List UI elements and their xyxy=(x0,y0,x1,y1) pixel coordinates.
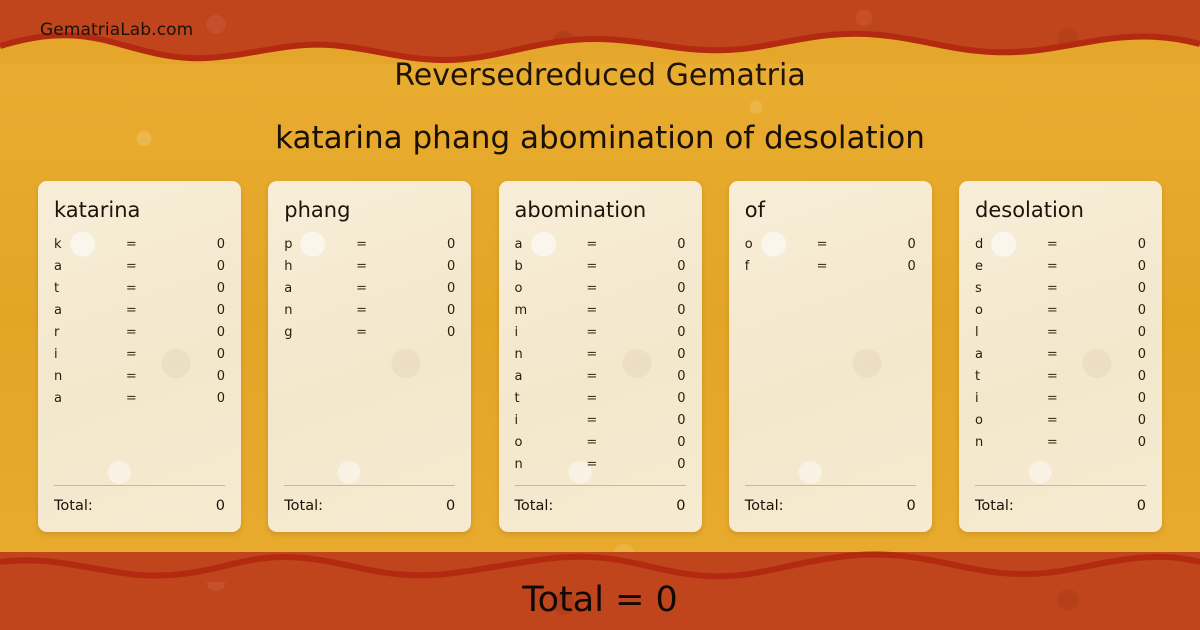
letter-value: 0 xyxy=(174,325,225,340)
letter-value: 0 xyxy=(634,413,685,428)
equals-sign: = xyxy=(1047,347,1095,362)
letter-label: n xyxy=(54,369,126,384)
letter-label: o xyxy=(975,413,1047,428)
letter-row: o=0 xyxy=(745,237,916,259)
letter-label: a xyxy=(54,391,126,406)
equals-sign: = xyxy=(586,237,634,252)
letter-row: a=0 xyxy=(284,281,455,303)
letter-label: o xyxy=(515,281,587,296)
letter-value: 0 xyxy=(1095,259,1146,274)
letter-row: p=0 xyxy=(284,237,455,259)
equals-sign: = xyxy=(586,303,634,318)
equals-sign: = xyxy=(817,237,865,252)
equals-sign: = xyxy=(586,457,634,472)
card-total-row: Total:0 xyxy=(975,498,1146,518)
equals-sign: = xyxy=(586,325,634,340)
bottom-torn-edge xyxy=(0,548,1200,582)
letter-label: i xyxy=(515,413,587,428)
letter-row: i=0 xyxy=(515,325,686,347)
letter-label: i xyxy=(975,391,1047,406)
phrase-subtitle: katarina phang abomination of desolation xyxy=(0,120,1200,156)
equals-sign: = xyxy=(1047,391,1095,406)
equals-sign: = xyxy=(356,281,404,296)
card-word-title: phang xyxy=(284,199,455,221)
letter-label: n xyxy=(515,347,587,362)
letter-label: i xyxy=(54,347,126,362)
letter-row: n=0 xyxy=(54,369,225,391)
equals-sign: = xyxy=(586,413,634,428)
card-total-value: 0 xyxy=(216,498,225,514)
letter-row: n=0 xyxy=(515,347,686,369)
letter-value: 0 xyxy=(1095,281,1146,296)
letter-row: a=0 xyxy=(54,391,225,413)
letter-value: 0 xyxy=(634,259,685,274)
site-logo[interactable]: GematriaLab.com xyxy=(40,20,193,40)
letter-row: o=0 xyxy=(515,435,686,457)
letter-value: 0 xyxy=(864,237,915,252)
letter-row: m=0 xyxy=(515,303,686,325)
letter-label: o xyxy=(975,303,1047,318)
letter-value: 0 xyxy=(1095,369,1146,384)
equals-sign: = xyxy=(1047,237,1095,252)
letter-label: g xyxy=(284,325,356,340)
letter-row: a=0 xyxy=(975,347,1146,369)
letter-value: 0 xyxy=(174,237,225,252)
equals-sign: = xyxy=(126,259,174,274)
letter-row: o=0 xyxy=(515,281,686,303)
letter-row: i=0 xyxy=(54,347,225,369)
equals-sign: = xyxy=(126,303,174,318)
letter-label: a xyxy=(515,369,587,384)
letter-value: 0 xyxy=(1095,237,1146,252)
word-card: katarinak=0a=0t=0a=0r=0i=0n=0a=0Total:0 xyxy=(38,181,241,532)
card-total-value: 0 xyxy=(676,498,685,514)
equals-sign: = xyxy=(586,369,634,384)
letter-value: 0 xyxy=(634,347,685,362)
word-card: ofo=0f=0Total:0 xyxy=(729,181,932,532)
equals-sign: = xyxy=(356,237,404,252)
letter-label: m xyxy=(515,303,587,318)
letter-value: 0 xyxy=(634,369,685,384)
letter-value: 0 xyxy=(634,303,685,318)
grand-total: Total = 0 xyxy=(0,580,1200,620)
letter-value: 0 xyxy=(634,457,685,472)
equals-sign: = xyxy=(586,391,634,406)
equals-sign: = xyxy=(586,347,634,362)
letter-label: n xyxy=(515,457,587,472)
letter-row: s=0 xyxy=(975,281,1146,303)
equals-sign: = xyxy=(817,259,865,274)
letter-label: o xyxy=(515,435,587,450)
equals-sign: = xyxy=(126,391,174,406)
card-total-row: Total:0 xyxy=(54,498,225,518)
letter-label: a xyxy=(54,259,126,274)
letter-row: k=0 xyxy=(54,237,225,259)
letter-value: 0 xyxy=(174,259,225,274)
letter-label: a xyxy=(975,347,1047,362)
card-word-title: of xyxy=(745,199,916,221)
equals-sign: = xyxy=(1047,413,1095,428)
letter-rows: d=0e=0s=0o=0l=0a=0t=0i=0o=0n=0 xyxy=(975,237,1146,485)
card-total-row: Total:0 xyxy=(284,498,455,518)
equals-sign: = xyxy=(1047,303,1095,318)
card-divider xyxy=(515,485,686,486)
letter-value: 0 xyxy=(174,369,225,384)
card-total-label: Total: xyxy=(975,498,1014,514)
letter-value: 0 xyxy=(404,303,455,318)
letter-label: f xyxy=(745,259,817,274)
letter-label: a xyxy=(284,281,356,296)
letter-label: h xyxy=(284,259,356,274)
letter-row: a=0 xyxy=(54,259,225,281)
letter-row: i=0 xyxy=(975,391,1146,413)
card-total-row: Total:0 xyxy=(745,498,916,518)
letter-label: a xyxy=(515,237,587,252)
letter-label: a xyxy=(54,303,126,318)
letter-row: o=0 xyxy=(975,413,1146,435)
letter-label: k xyxy=(54,237,126,252)
letter-value: 0 xyxy=(174,391,225,406)
letter-row: g=0 xyxy=(284,325,455,347)
letter-value: 0 xyxy=(1095,303,1146,318)
letter-row: n=0 xyxy=(975,435,1146,457)
letter-value: 0 xyxy=(634,391,685,406)
letter-row: d=0 xyxy=(975,237,1146,259)
letter-value: 0 xyxy=(174,347,225,362)
letter-value: 0 xyxy=(634,281,685,296)
card-total-row: Total:0 xyxy=(515,498,686,518)
equals-sign: = xyxy=(1047,259,1095,274)
letter-row: t=0 xyxy=(54,281,225,303)
equals-sign: = xyxy=(1047,369,1095,384)
letter-label: t xyxy=(515,391,587,406)
letter-label: p xyxy=(284,237,356,252)
equals-sign: = xyxy=(126,325,174,340)
letter-label: s xyxy=(975,281,1047,296)
equals-sign: = xyxy=(356,303,404,318)
letter-label: l xyxy=(975,325,1047,340)
letter-label: n xyxy=(284,303,356,318)
equals-sign: = xyxy=(586,259,634,274)
letter-value: 0 xyxy=(634,325,685,340)
letter-value: 0 xyxy=(404,281,455,296)
letter-row: o=0 xyxy=(975,303,1146,325)
letter-row: t=0 xyxy=(515,391,686,413)
equals-sign: = xyxy=(356,325,404,340)
card-total-value: 0 xyxy=(446,498,455,514)
equals-sign: = xyxy=(1047,435,1095,450)
letter-value: 0 xyxy=(174,281,225,296)
card-total-label: Total: xyxy=(54,498,93,514)
equals-sign: = xyxy=(126,347,174,362)
letter-value: 0 xyxy=(1095,391,1146,406)
letter-label: t xyxy=(54,281,126,296)
letter-row: a=0 xyxy=(54,303,225,325)
card-total-label: Total: xyxy=(745,498,784,514)
card-word-title: abomination xyxy=(515,199,686,221)
letter-row: i=0 xyxy=(515,413,686,435)
word-card: phangp=0h=0a=0n=0g=0Total:0 xyxy=(268,181,471,532)
letter-label: e xyxy=(975,259,1047,274)
card-divider xyxy=(54,485,225,486)
word-card: abominationa=0b=0o=0m=0i=0n=0a=0t=0i=0o=… xyxy=(499,181,702,532)
card-total-label: Total: xyxy=(515,498,554,514)
letter-value: 0 xyxy=(1095,325,1146,340)
letter-label: n xyxy=(975,435,1047,450)
letter-value: 0 xyxy=(1095,413,1146,428)
card-total-label: Total: xyxy=(284,498,323,514)
letter-row: t=0 xyxy=(975,369,1146,391)
letter-rows: a=0b=0o=0m=0i=0n=0a=0t=0i=0o=0n=0 xyxy=(515,237,686,485)
card-divider xyxy=(284,485,455,486)
letter-rows: k=0a=0t=0a=0r=0i=0n=0a=0 xyxy=(54,237,225,485)
card-divider xyxy=(745,485,916,486)
letter-row: h=0 xyxy=(284,259,455,281)
letter-value: 0 xyxy=(634,237,685,252)
letter-row: r=0 xyxy=(54,325,225,347)
equals-sign: = xyxy=(1047,325,1095,340)
word-card: desolationd=0e=0s=0o=0l=0a=0t=0i=0o=0n=0… xyxy=(959,181,1162,532)
letter-row: l=0 xyxy=(975,325,1146,347)
letter-row: f=0 xyxy=(745,259,916,281)
word-cards-row: katarinak=0a=0t=0a=0r=0i=0n=0a=0Total:0p… xyxy=(38,181,1162,532)
letter-label: t xyxy=(975,369,1047,384)
letter-rows: p=0h=0a=0n=0g=0 xyxy=(284,237,455,485)
letter-rows: o=0f=0 xyxy=(745,237,916,485)
letter-value: 0 xyxy=(174,303,225,318)
letter-label: d xyxy=(975,237,1047,252)
letter-row: a=0 xyxy=(515,237,686,259)
letter-value: 0 xyxy=(404,237,455,252)
letter-row: e=0 xyxy=(975,259,1146,281)
card-word-title: katarina xyxy=(54,199,225,221)
card-word-title: desolation xyxy=(975,199,1146,221)
letter-label: i xyxy=(515,325,587,340)
letter-value: 0 xyxy=(404,259,455,274)
letter-value: 0 xyxy=(1095,435,1146,450)
letter-value: 0 xyxy=(634,435,685,450)
page-canvas: GematriaLab.com Reversedreduced Gematria… xyxy=(0,0,1200,630)
card-total-value: 0 xyxy=(907,498,916,514)
equals-sign: = xyxy=(586,281,634,296)
letter-row: n=0 xyxy=(515,457,686,479)
letter-row: a=0 xyxy=(515,369,686,391)
letter-row: n=0 xyxy=(284,303,455,325)
equals-sign: = xyxy=(586,435,634,450)
letter-label: b xyxy=(515,259,587,274)
equals-sign: = xyxy=(126,281,174,296)
equals-sign: = xyxy=(126,237,174,252)
letter-label: o xyxy=(745,237,817,252)
equals-sign: = xyxy=(356,259,404,274)
equals-sign: = xyxy=(1047,281,1095,296)
letter-value: 0 xyxy=(864,259,915,274)
card-total-value: 0 xyxy=(1137,498,1146,514)
letter-label: r xyxy=(54,325,126,340)
page-title: Reversedreduced Gematria xyxy=(0,58,1200,93)
card-divider xyxy=(975,485,1146,486)
letter-value: 0 xyxy=(1095,347,1146,362)
letter-value: 0 xyxy=(404,325,455,340)
equals-sign: = xyxy=(126,369,174,384)
letter-row: b=0 xyxy=(515,259,686,281)
